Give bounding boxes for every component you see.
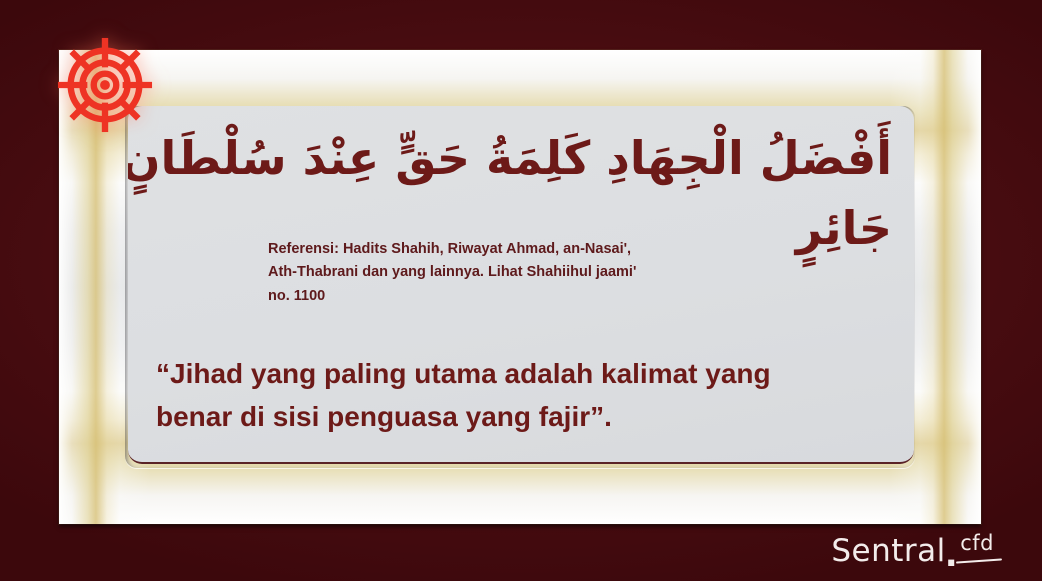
crosshair-target-icon bbox=[56, 36, 154, 134]
quote-line-2: benar di sisi penguasa yang fajir”. bbox=[156, 396, 886, 439]
watermark-name: Sentral bbox=[831, 533, 945, 569]
quote-line-1: “Jihad yang paling utama adalah kalimat … bbox=[156, 353, 886, 396]
watermark-tld: cfd bbox=[960, 531, 994, 555]
reference-line-1: Referensi: Hadits Shahih, Riwayat Ahmad,… bbox=[268, 238, 738, 261]
poster-canvas: أَفْضَلُ الْجِهَادِ كَلِمَةُ حَقٍّ عِنْد… bbox=[0, 0, 1042, 581]
quote-card: أَفْضَلُ الْجِهَادِ كَلِمَةُ حَقٍّ عِنْد… bbox=[128, 106, 914, 464]
arabic-line-1: أَفْضَلُ الْجِهَادِ كَلِمَةُ حَقٍّ عِنْد… bbox=[140, 124, 892, 194]
reference-block: Referensi: Hadits Shahih, Riwayat Ahmad,… bbox=[268, 238, 738, 308]
reference-line-2: Ath-Thabrani dan yang lainnya. Lihat Sha… bbox=[268, 261, 738, 284]
translation-quote: “Jihad yang paling utama adalah kalimat … bbox=[156, 353, 886, 438]
watermark-sentral-cfd: Sentral . cfd bbox=[831, 533, 994, 569]
reference-line-3: no. 1100 bbox=[268, 285, 738, 308]
watermark-dot: . bbox=[945, 542, 958, 569]
